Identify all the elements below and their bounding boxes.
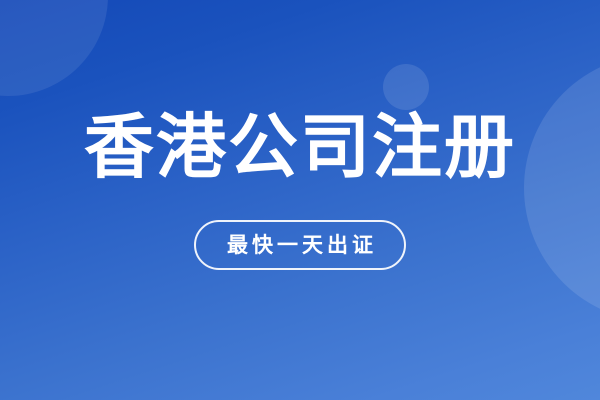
badge-fastest-certificate: 最快一天出证 xyxy=(194,220,406,270)
banner-content: 香港公司注册 最快一天出证 xyxy=(0,0,600,400)
promo-banner: 香港公司注册 最快一天出证 xyxy=(0,0,600,400)
badge-label: 最快一天出证 xyxy=(223,235,377,256)
banner-headline: 香港公司注册 xyxy=(84,112,516,182)
